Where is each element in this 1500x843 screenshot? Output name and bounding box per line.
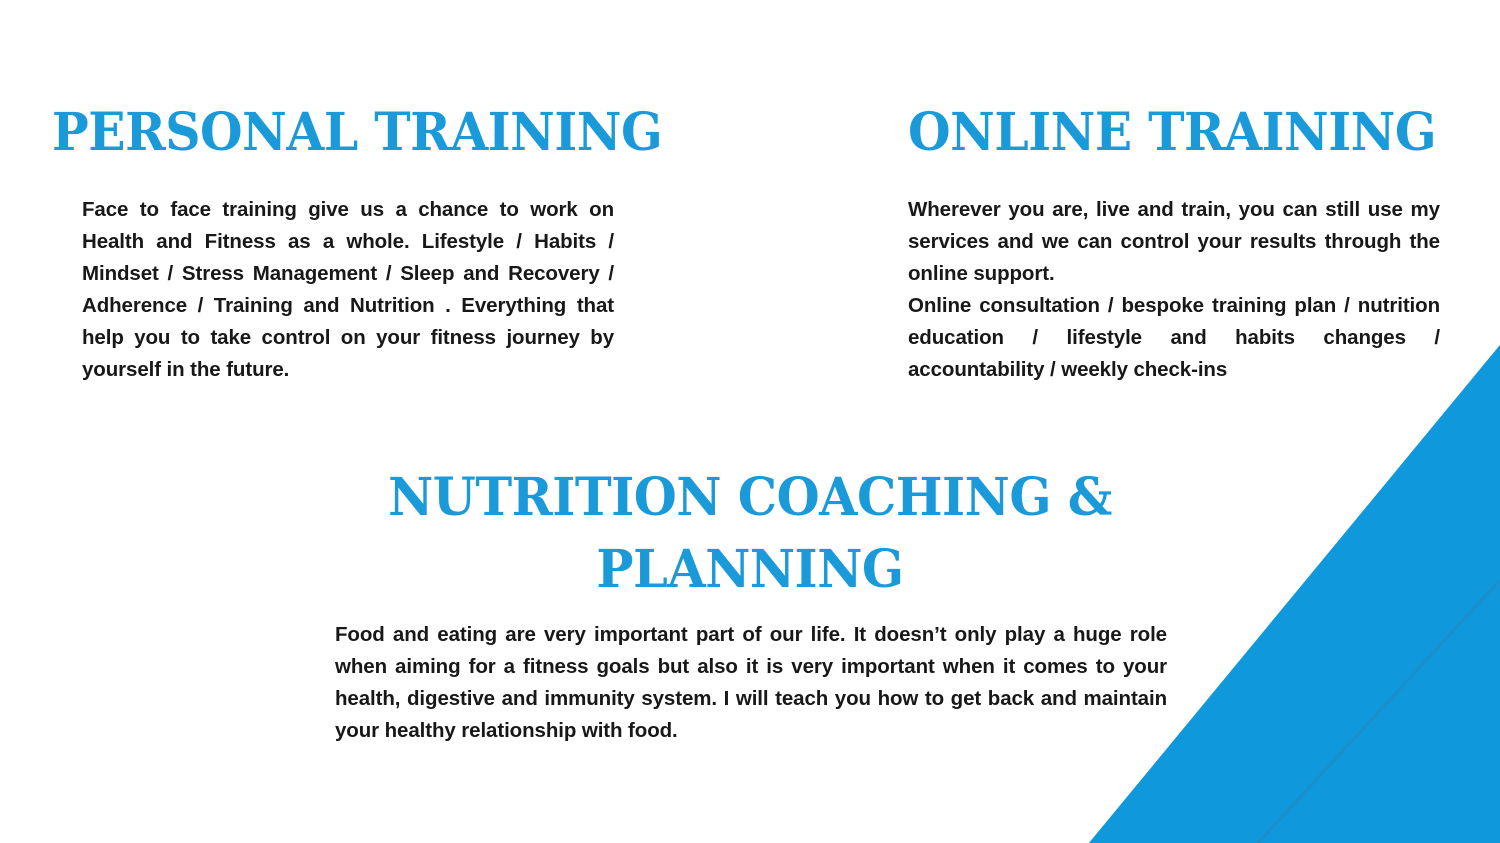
online-training-body-paragraph-2: Online consultation / bespoke training p… (908, 290, 1440, 386)
section-personal-training: PERSONAL TRAINING Face to face training … (52, 106, 652, 159)
nutrition-coaching-heading: NUTRITION COACHING & PLANNING (285, 462, 1216, 606)
personal-training-body: Face to face training give us a chance t… (82, 194, 614, 386)
personal-training-body-wrap: Face to face training give us a chance t… (82, 194, 614, 386)
personal-training-heading: PERSONAL TRAINING (52, 106, 616, 159)
nutrition-coaching-body-wrap: Food and eating are very important part … (335, 619, 1167, 747)
online-training-heading: ONLINE TRAINING (908, 106, 1416, 159)
diagonal-thin-line-icon (1258, 580, 1500, 843)
online-training-body-paragraph-1: Wherever you are, live and train, you ca… (908, 194, 1440, 290)
section-nutrition-coaching: NUTRITION COACHING & PLANNING Food and e… (260, 462, 1240, 606)
slide-canvas: PERSONAL TRAINING Face to face training … (0, 0, 1500, 843)
section-online-training: ONLINE TRAINING Wherever you are, live a… (908, 106, 1448, 159)
online-training-body-wrap: Wherever you are, live and train, you ca… (908, 194, 1440, 386)
nutrition-coaching-body: Food and eating are very important part … (335, 619, 1167, 747)
